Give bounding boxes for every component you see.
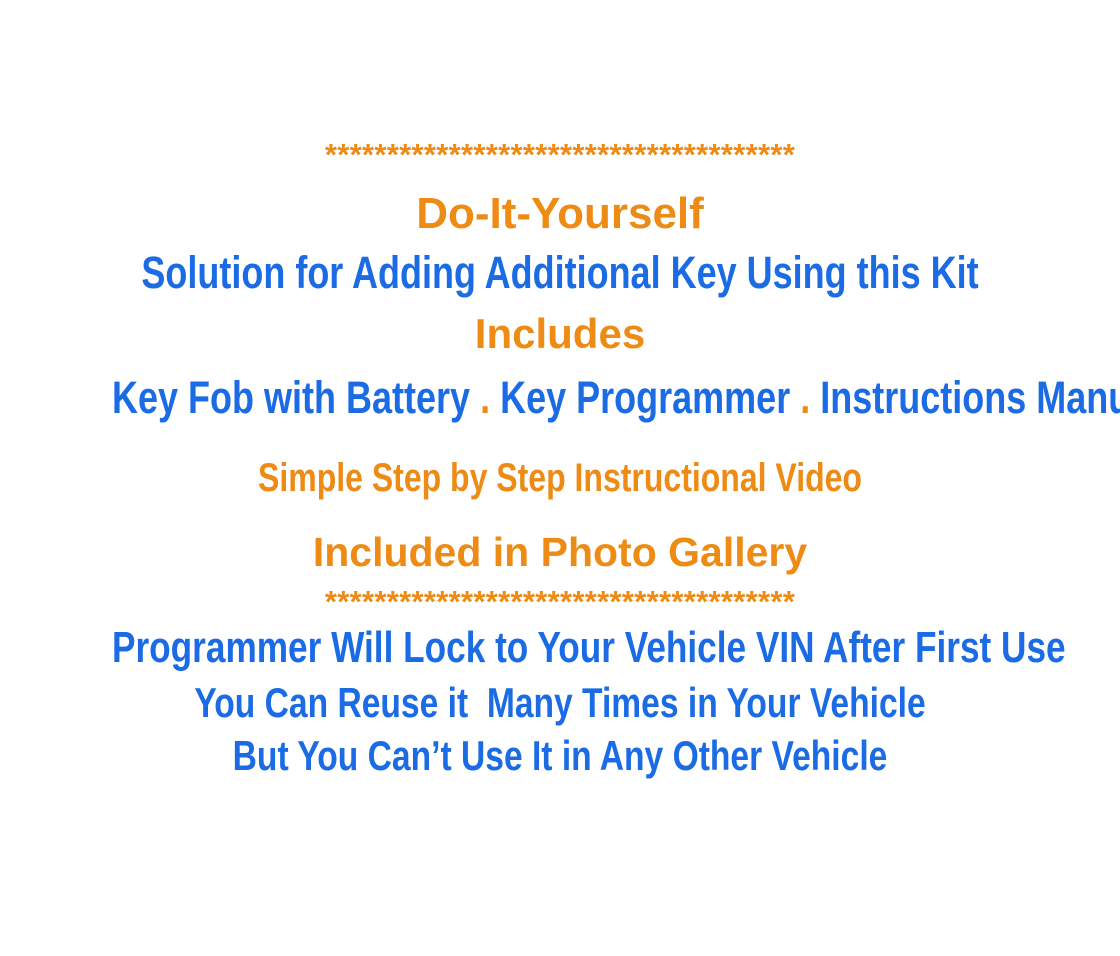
disclaimer-line-1: Programmer Will Lock to Your Vehicle VIN… bbox=[112, 626, 1008, 670]
divider-asterisks-bottom: ************************************** bbox=[0, 586, 1120, 617]
contents-separator-1: . bbox=[480, 372, 490, 423]
kit-contents-item-3: Instructions Manual bbox=[820, 372, 1120, 423]
kit-contents-item-2: Key Programmer bbox=[500, 372, 790, 423]
kit-contents-list: Key Fob with Battery . Key Programmer . … bbox=[112, 375, 1008, 420]
instructional-video-note: Simple Step by Step Instructional Video bbox=[112, 458, 1008, 498]
divider-asterisks-top: ************************************** bbox=[0, 139, 1120, 170]
includes-label: Includes bbox=[0, 313, 1120, 355]
kit-contents-item-1: Key Fob with Battery bbox=[112, 372, 470, 423]
contents-separator-2: . bbox=[800, 372, 810, 423]
subtitle: Solution for Adding Additional Key Using… bbox=[112, 250, 1008, 295]
promotional-poster: ************************************** D… bbox=[0, 0, 1120, 956]
page-title: Do-It-Yourself bbox=[0, 192, 1120, 236]
disclaimer-line-3: But You Can’t Use It in Any Other Vehicl… bbox=[112, 735, 1008, 777]
photo-gallery-note: Included in Photo Gallery bbox=[0, 532, 1120, 573]
disclaimer-line-2: You Can Reuse it Many Times in Your Vehi… bbox=[112, 682, 1008, 724]
